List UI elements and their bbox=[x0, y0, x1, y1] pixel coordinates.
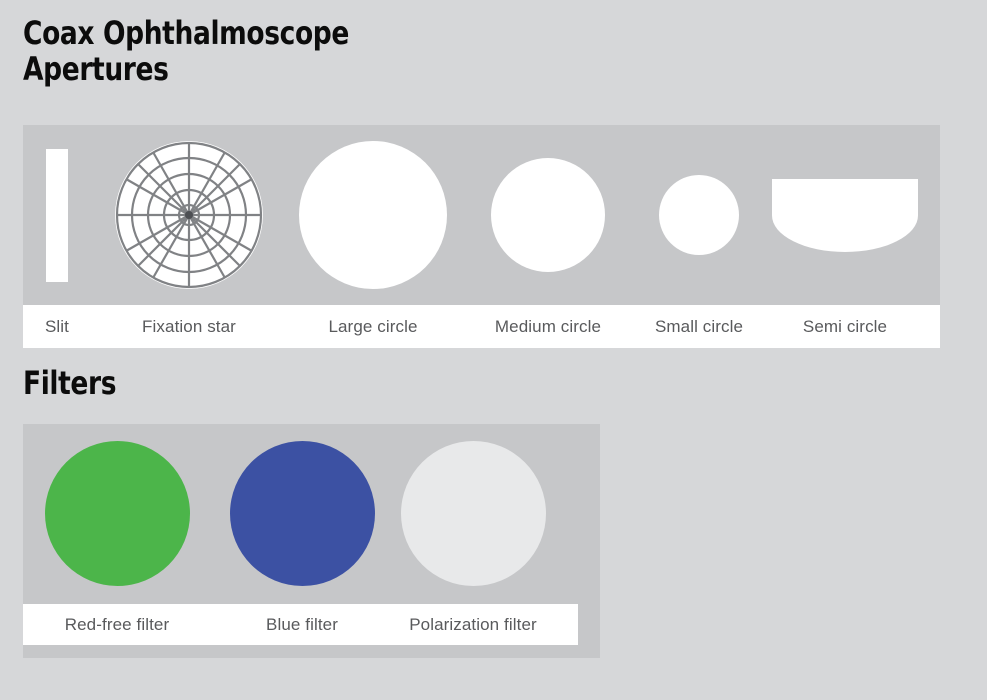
aperture-label-large-circle: Large circle bbox=[293, 317, 453, 337]
aperture-medium-circle bbox=[468, 125, 628, 305]
slit-shape-icon bbox=[46, 149, 68, 282]
red-free-filter-icon bbox=[45, 441, 190, 586]
fixation-star-icon bbox=[115, 141, 263, 289]
apertures-label-strip: Slit Fixation star Large circle Medium c… bbox=[23, 305, 940, 348]
aperture-large-circle bbox=[293, 125, 453, 305]
medium-circle-shape-icon bbox=[491, 158, 605, 272]
small-circle-shape-icon bbox=[659, 175, 739, 255]
filter-blue bbox=[215, 424, 390, 602]
apertures-panel bbox=[23, 125, 940, 305]
filters-section-title: Filters bbox=[23, 366, 116, 402]
polarization-filter-icon bbox=[401, 441, 546, 586]
filters-label-strip: Red-free filter Blue filter Polarization… bbox=[23, 604, 578, 645]
aperture-semi-circle bbox=[765, 125, 925, 305]
aperture-fixation-star bbox=[109, 125, 269, 305]
filter-label-blue: Blue filter bbox=[215, 615, 390, 635]
page-title: Coax Ophthalmoscope Apertures bbox=[23, 16, 667, 88]
aperture-label-small-circle: Small circle bbox=[619, 317, 779, 337]
aperture-small-circle bbox=[619, 125, 779, 305]
aperture-label-medium-circle: Medium circle bbox=[468, 317, 628, 337]
filter-polarization bbox=[386, 424, 561, 602]
large-circle-shape-icon bbox=[299, 141, 447, 289]
filter-label-red-free: Red-free filter bbox=[30, 615, 205, 635]
filter-label-polarization: Polarization filter bbox=[386, 615, 561, 635]
aperture-label-semi-circle: Semi circle bbox=[765, 317, 925, 337]
filter-red-free bbox=[30, 424, 205, 602]
aperture-label-fixation-star: Fixation star bbox=[109, 317, 269, 337]
semi-circle-shape-icon bbox=[772, 179, 918, 252]
blue-filter-icon bbox=[230, 441, 375, 586]
